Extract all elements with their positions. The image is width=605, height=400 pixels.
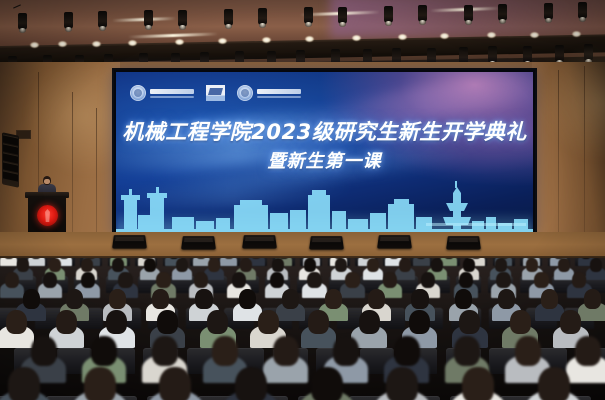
audience-member-head (459, 310, 480, 334)
audience-member-head (463, 258, 475, 272)
school-seal-logo (237, 85, 301, 101)
audience-member-head (515, 336, 541, 366)
spotlight (178, 10, 187, 27)
audience-member-head (538, 367, 570, 400)
audience-member-head (590, 258, 602, 272)
audience-member-head (152, 336, 178, 366)
panel-seam (584, 66, 585, 256)
audience-member-shoulders (413, 258, 430, 266)
audience-member-head (91, 336, 117, 366)
led-screen[interactable]: 机械工程学院2023级研究生新生开学典礼 暨新生第一课 (116, 72, 533, 233)
audience-member-head (156, 272, 170, 289)
screen-title-block: 机械工程学院2023级研究生新生开学典礼 暨新生第一课 (116, 120, 533, 173)
audience-member-head (411, 289, 428, 309)
audience-member-head (212, 336, 238, 366)
audience-member-head (368, 289, 385, 309)
spotlight (498, 4, 507, 21)
audience-member-head (176, 258, 188, 272)
screen-logo-row (130, 85, 301, 101)
ceiling-downlight (572, 31, 581, 37)
right-wall (532, 62, 605, 260)
audience-member-head (325, 289, 342, 309)
audience-member-head (383, 272, 397, 289)
spotlight (418, 5, 427, 22)
audience-member-head (345, 272, 359, 289)
university-seal-logo (130, 85, 194, 101)
spotlight (578, 2, 587, 19)
led-screen-frame: 机械工程学院2023级研究生新生开学典礼 暨新生第一课 (114, 70, 535, 235)
university-emblem-icon (37, 205, 58, 226)
audience-member-head (106, 310, 127, 334)
audience-member-head (112, 258, 124, 272)
presenter-face (44, 179, 50, 184)
audience-member-head (258, 310, 279, 334)
audience-member-head (66, 289, 83, 309)
audience-member-head (307, 272, 321, 289)
audience-member-head (421, 272, 435, 289)
audience-member-head (311, 367, 343, 400)
stage-monitor (377, 235, 412, 249)
stage-monitor (112, 235, 147, 249)
audience-member-shoulders (0, 258, 17, 266)
spotlight (488, 46, 497, 63)
audience-member-shoulders (28, 258, 45, 266)
audience-member-head (235, 367, 267, 400)
school-name-mark (257, 89, 301, 98)
audience-member-head (208, 258, 220, 272)
audience-member-head (282, 289, 299, 309)
audience-member-head (459, 272, 473, 289)
secondary-mark-icon (206, 85, 225, 101)
audience-member-head (43, 272, 57, 289)
audience-member-head (495, 258, 507, 272)
stage-monitor (446, 236, 481, 250)
audience-member-head (584, 289, 601, 309)
stage-monitor (242, 235, 277, 249)
ceiling-strip-light (128, 32, 218, 38)
audience-member-head (359, 310, 380, 334)
line-array-speaker (2, 132, 19, 188)
spotlight (384, 6, 393, 23)
audience-member-head (232, 272, 246, 289)
audience-member-head (240, 258, 252, 272)
audience-member-head (109, 289, 126, 309)
audience-member-shoulders (220, 258, 237, 266)
audience-member-head (455, 289, 472, 309)
university-name-mark (150, 89, 194, 98)
audience-member-head (510, 310, 531, 334)
stage-monitor (181, 236, 216, 250)
spotlight (304, 7, 313, 24)
audience-member-head (239, 289, 256, 309)
audience-member-head (572, 272, 586, 289)
stage-monitor (309, 236, 344, 250)
audience-member-head (558, 258, 570, 272)
screen-title-line2: 暨新生第一课 (116, 151, 533, 173)
panel-seam (558, 70, 559, 256)
audience-member-head (399, 258, 411, 272)
audience-member-head (49, 258, 61, 272)
audience-member-head (81, 272, 95, 289)
audience-member-head (534, 272, 548, 289)
spotlight (464, 5, 473, 22)
spotlight (523, 46, 532, 63)
audience-member-head (367, 258, 379, 272)
audience-member-head (17, 258, 29, 272)
audience-member-head (496, 272, 510, 289)
audience-member-head (333, 336, 359, 366)
audience-member-head (431, 258, 443, 272)
audience-member-head (454, 336, 480, 366)
spotlight (338, 7, 347, 24)
spotlight (224, 9, 233, 26)
audience-member-head (270, 272, 284, 289)
audience-member-head (541, 289, 558, 309)
audience-member-head (159, 367, 191, 400)
audience-member-head (394, 336, 420, 366)
audience-member-head (335, 258, 347, 272)
audience-member-head (462, 367, 494, 400)
ceiling-downlight (128, 40, 137, 46)
audience-member-head (409, 310, 430, 334)
auditorium-scene: 机械工程学院2023级研究生新生开学典礼 暨新生第一课 (0, 0, 605, 400)
ceiling-downlight (92, 41, 101, 47)
audience-member-head (56, 310, 77, 334)
audience-member-head (84, 367, 116, 400)
screen-title-line1: 机械工程学院2023级研究生新生开学典礼 (116, 120, 533, 145)
audience-member-head (272, 258, 284, 272)
audience-member-head (157, 310, 178, 334)
audience-member-head (23, 289, 40, 309)
ceiling-downlight (530, 32, 539, 38)
city-skyline-silhouette (116, 177, 533, 233)
secondary-mark-logo (206, 85, 225, 101)
ceiling-downlight (175, 39, 184, 45)
spotlight (64, 12, 73, 29)
audience-seating-area (0, 258, 605, 400)
audience-member-head (81, 258, 93, 272)
spotlight (144, 10, 153, 27)
audience-member-head (6, 310, 27, 334)
audience-member-head (560, 310, 581, 334)
audience-member-head (144, 258, 156, 272)
audience-member-head (152, 289, 169, 309)
audience-member-head (118, 272, 132, 289)
spotlight (18, 13, 27, 30)
spotlight (544, 3, 553, 20)
audience-member-head (273, 336, 299, 366)
school-seal-icon (237, 85, 253, 101)
audience-member-head (207, 310, 228, 334)
audience-member-head (31, 336, 57, 366)
audience-member-head (194, 272, 208, 289)
audience-member-head (575, 336, 601, 366)
university-seal-icon (130, 85, 146, 101)
audience-member-head (5, 272, 19, 289)
spotlight (98, 11, 107, 28)
audience-member-head (195, 289, 212, 309)
audience-member-head (8, 367, 40, 400)
audience-member-head (498, 289, 515, 309)
audience-member-head (526, 258, 538, 272)
audience-member-head (308, 310, 329, 334)
audience-member-head (304, 258, 316, 272)
spotlight (258, 8, 267, 25)
audience-member-head (386, 367, 418, 400)
